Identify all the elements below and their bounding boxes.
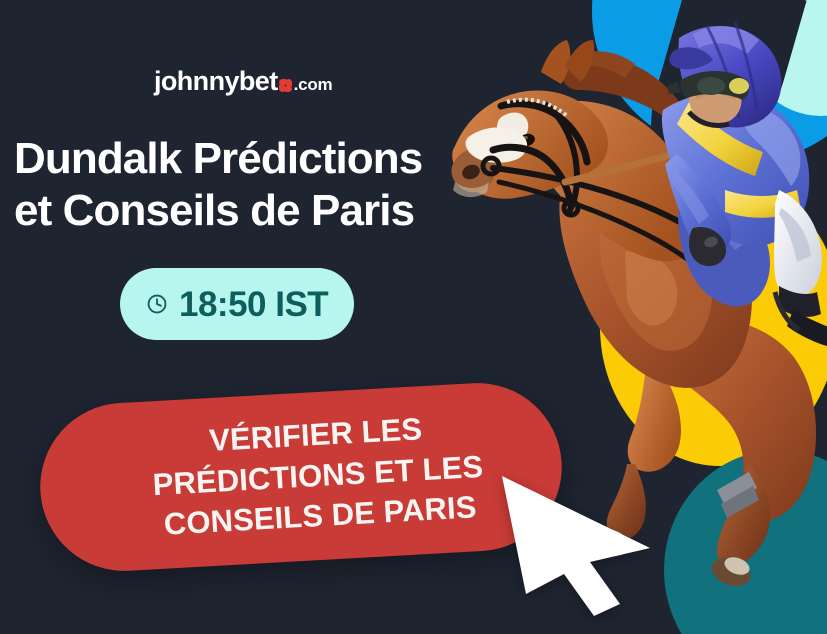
johnnybet-logo[interactable]: johnnybet .com bbox=[154, 68, 332, 95]
promo-banner: johnnybet .com Dundalk Prédictions et Co… bbox=[0, 0, 827, 634]
logo-wordmark: johnnybet bbox=[154, 68, 278, 95]
cta-label: VÉRIFIER LES PRÉDICTIONS ET LES CONSEILS… bbox=[115, 406, 486, 549]
post-time-text: 18:50 IST bbox=[179, 287, 328, 322]
headline-line-2: et Conseils de Paris bbox=[14, 185, 494, 237]
decorative-blob-yellow bbox=[600, 176, 827, 466]
clock-icon bbox=[146, 293, 168, 315]
decorative-blob-teal bbox=[664, 450, 827, 634]
post-time-badge: 18:50 IST bbox=[120, 268, 354, 340]
mouse-cursor-arrow-icon bbox=[498, 466, 688, 616]
headline-line-1: Dundalk Prédictions bbox=[14, 133, 494, 185]
flower-ornament-icon bbox=[279, 79, 292, 92]
logo-tld: .com bbox=[294, 76, 333, 95]
check-predictions-cta-button[interactable]: VÉRIFIER LES PRÉDICTIONS ET LES CONSEILS… bbox=[36, 379, 567, 576]
page-title: Dundalk Prédictions et Conseils de Paris bbox=[14, 133, 494, 238]
